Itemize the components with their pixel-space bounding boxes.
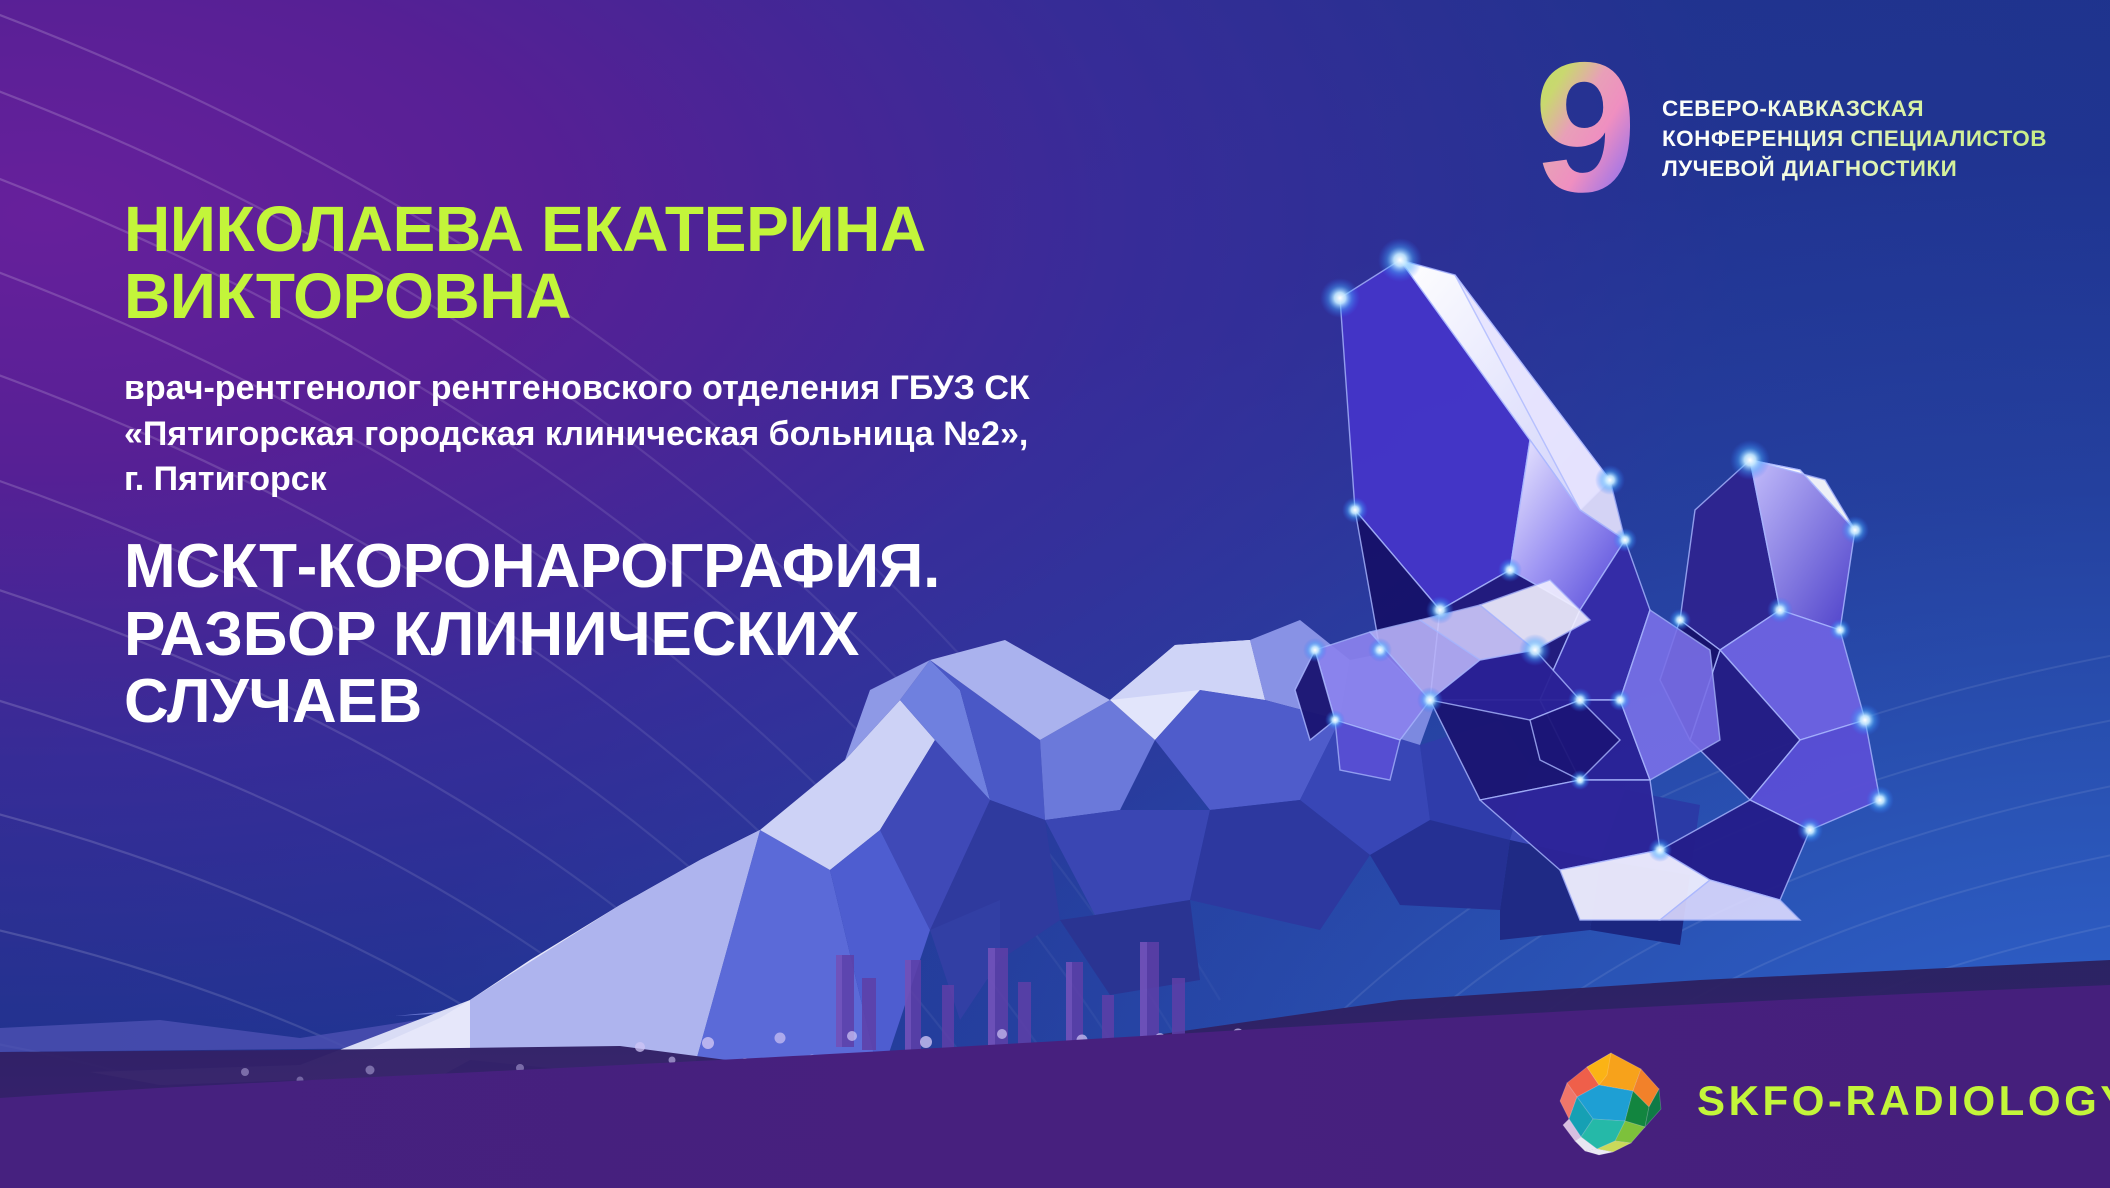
slide-content: НИКОЛАЕВА ЕКАТЕРИНА ВИКТОРОВНА врач-рент… [124,196,1394,736]
conference-line-2: КОНФЕРЕНЦИЯ СПЕЦИАЛИСТОВ [1662,125,2047,154]
conference-title-lines: СЕВЕРО-КАВКАЗСКАЯ КОНФЕРЕНЦИЯ СПЕЦИАЛИСТ… [1662,48,2047,183]
polyhedron-logo-icon [1555,1045,1667,1157]
presentation-slide: 9 СЕВЕРО-КАВКАЗСКАЯ КОНФЕРЕНЦИЯ СПЕЦИАЛИ… [0,0,2110,1188]
conference-logo: 9 СЕВЕРО-КАВКАЗСКАЯ КОНФЕРЕНЦИЯ СПЕЦИАЛИ… [1540,48,2060,198]
speaker-affiliation: врач-рентгенолог рентгеновского отделени… [124,366,1394,503]
speaker-name: НИКОЛАЕВА ЕКАТЕРИНА ВИКТОРОВНА [124,196,1394,330]
talk-title: МСКТ-КОРОНАРОГРАФИЯ. РАЗБОР КЛИНИЧЕСКИХ … [124,533,1394,736]
brand-lockup: SKFO-RADIOLOGY [1555,1045,2110,1157]
conference-line-3: ЛУЧЕВОЙ ДИАГНОСТИКИ [1662,155,2047,184]
brand-name: SKFO-RADIOLOGY [1697,1077,2110,1125]
conference-line-1: СЕВЕРО-КАВКАЗСКАЯ [1662,95,2047,124]
svg-text:9: 9 [1540,50,1637,200]
edition-number-nine: 9 [1540,50,1656,200]
